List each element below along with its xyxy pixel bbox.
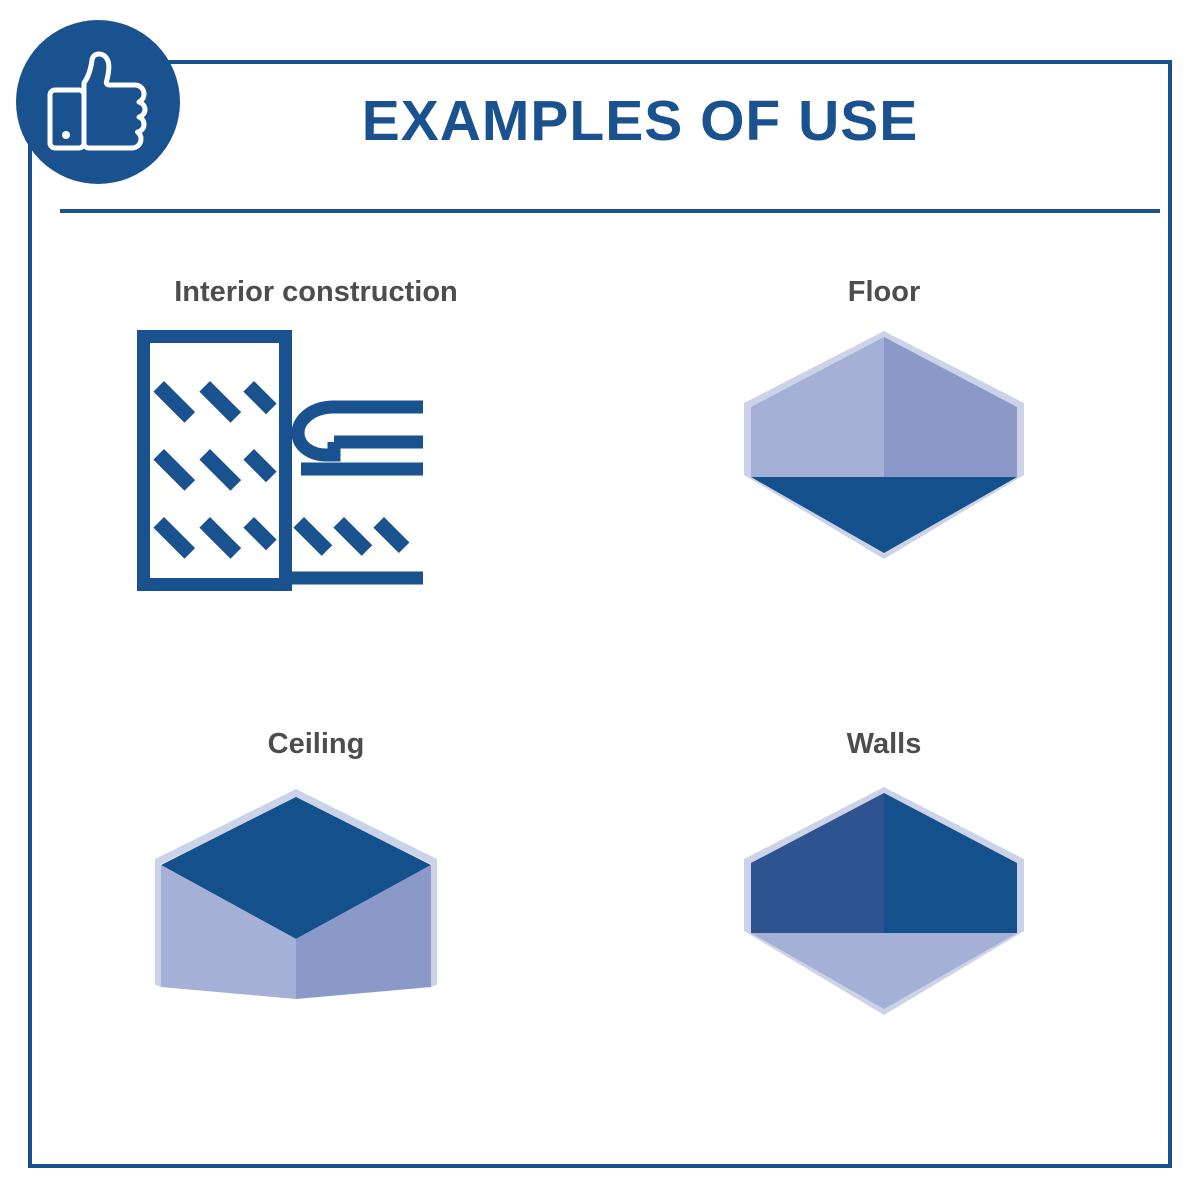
insulated-wall-panel-icon [136,329,426,599]
example-ceiling: Ceiling [32,700,600,1150]
title-divider [60,209,1160,213]
thumbs-up-badge [14,18,182,186]
example-label: Interior construction [174,276,458,309]
example-label: Walls [847,728,922,761]
isometric-walls-icon [739,783,1029,1023]
page-root: EXAMPLES OF USE Interior construction [0,0,1200,1200]
example-floor: Floor [600,250,1168,700]
example-label: Floor [848,276,921,309]
thumbs-up-icon [14,18,182,186]
highlighted-surface [751,793,884,933]
example-art [151,787,441,1007]
title-block: EXAMPLES OF USE [60,92,1160,152]
examples-grid: Interior construction [32,250,1168,1150]
example-walls: Walls [600,700,1168,1150]
example-art [739,783,1029,1023]
isometric-floor-icon [739,327,1029,567]
highlighted-surface [751,477,1017,553]
example-art [739,327,1029,567]
example-art [136,329,426,599]
page-title: EXAMPLES OF USE [60,92,1160,152]
example-label: Ceiling [268,728,365,761]
isometric-ceiling-icon [151,787,441,1007]
highlighted-surface [884,793,1017,933]
example-interior-construction: Interior construction [32,250,600,700]
